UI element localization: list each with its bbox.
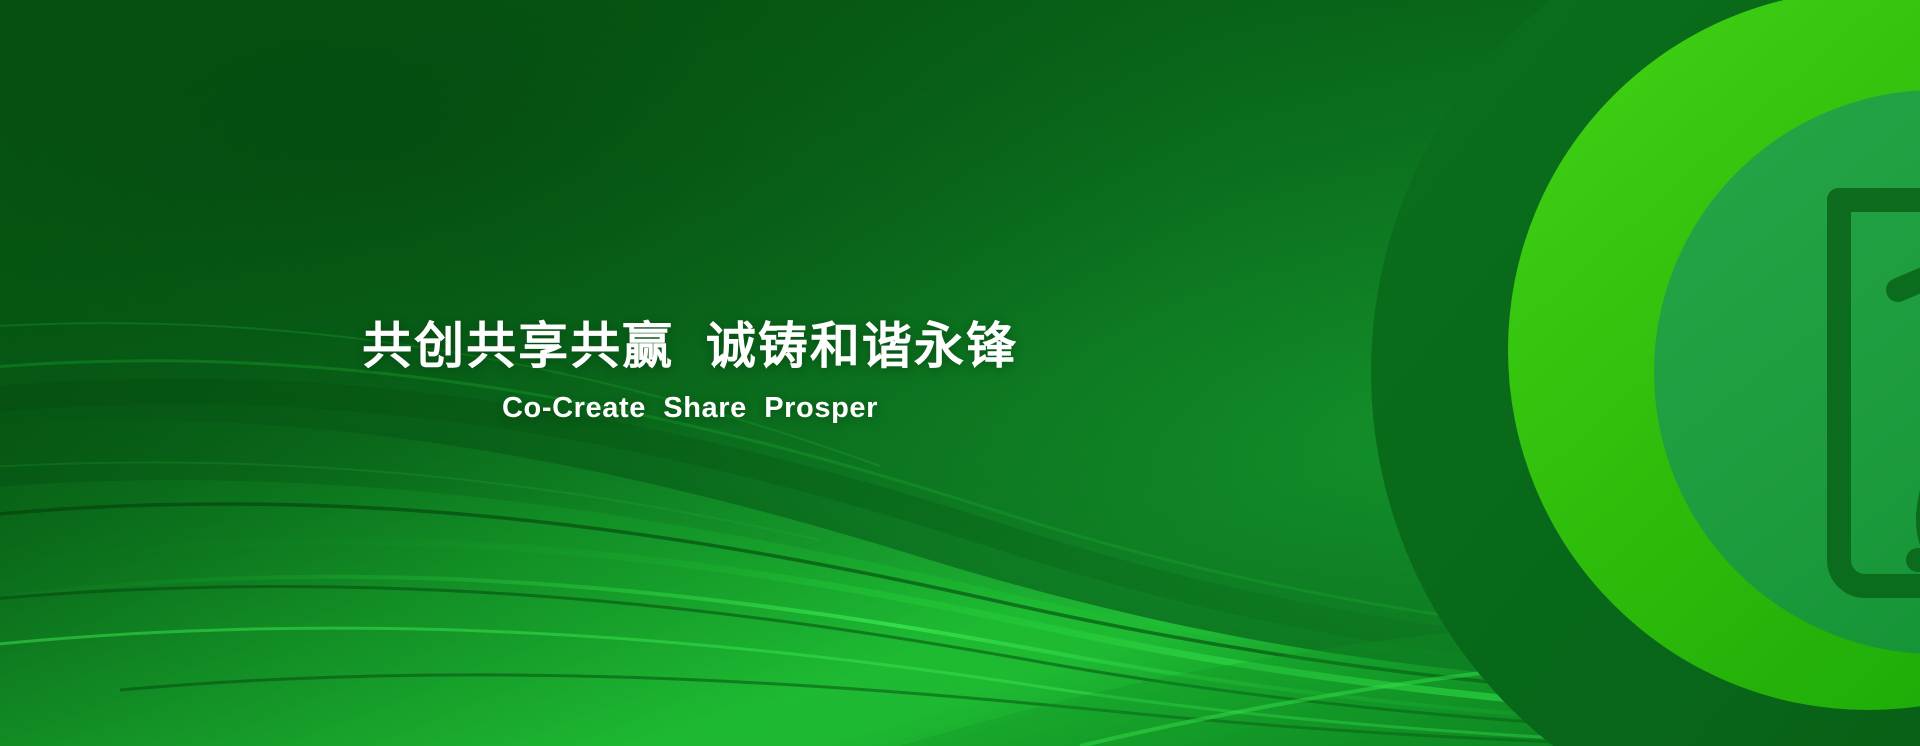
promo-banner: 共创共享共赢 诚铸和谐永锋 Co-Create Share Prosper — [0, 0, 1920, 746]
banner-copy-block: 共创共享共赢 诚铸和谐永锋 Co-Create Share Prosper — [0, 318, 1380, 426]
banner-headline: 共创共享共赢 诚铸和谐永锋 — [0, 318, 1380, 375]
banner-subheadline: Co-Create Share Prosper — [0, 391, 1380, 426]
